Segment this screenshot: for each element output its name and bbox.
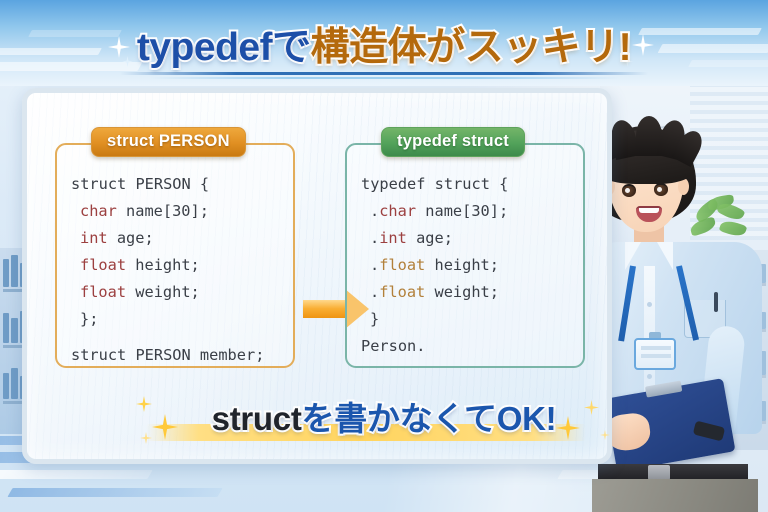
slide-canvas: struct PERSON struct PERSON {char name[3… xyxy=(0,0,768,512)
footer-segment: struct xyxy=(212,400,302,437)
right-code-block: typedef struct {.char name[30];.int age;… xyxy=(361,171,575,360)
title-segment: 構造体 xyxy=(311,26,427,69)
code-token: struct PERSON member; xyxy=(71,346,264,364)
code-line: .char name[30]; xyxy=(361,198,575,225)
left-card-badge: struct PERSON xyxy=(91,127,246,157)
code-keyword: char xyxy=(80,202,117,220)
code-line: struct PERSON { xyxy=(71,171,285,198)
code-token: name[30]; xyxy=(416,202,508,220)
code-keyword: int xyxy=(379,229,407,247)
code-line: .int age; xyxy=(361,225,575,252)
code-line: float height; xyxy=(71,252,285,279)
code-token: Person. xyxy=(361,337,425,355)
code-keyword: float xyxy=(80,256,126,274)
footer-segment: 書かなくて xyxy=(334,400,497,437)
code-keyword: float xyxy=(379,283,425,301)
title-segment: スッキリ! xyxy=(465,26,632,69)
code-keyword: float xyxy=(80,283,126,301)
code-token: }; xyxy=(80,310,98,328)
code-token: . xyxy=(370,256,379,274)
code-token: age; xyxy=(407,229,453,247)
code-token: weight; xyxy=(126,283,200,301)
code-token: height; xyxy=(425,256,499,274)
code-token: name[30]; xyxy=(117,202,209,220)
eye-right xyxy=(654,183,668,196)
footer-segment: OK! xyxy=(497,400,557,437)
code-line: .float weight; xyxy=(361,279,575,306)
title-segment: が xyxy=(426,26,465,69)
title-segment: typedef xyxy=(137,26,272,69)
code-token: height; xyxy=(126,256,200,274)
code-line: }; xyxy=(71,306,285,333)
collar-right xyxy=(657,242,673,270)
code-line: } xyxy=(361,306,575,333)
code-line: .float height; xyxy=(361,252,575,279)
belt-buckle xyxy=(648,465,670,480)
code-token: . xyxy=(370,229,379,247)
shirt-button xyxy=(647,374,652,379)
pocket-pen xyxy=(714,292,718,312)
struct-person-card: struct PERSON struct PERSON {char name[3… xyxy=(55,143,295,368)
right-card-badge: typedef struct xyxy=(381,127,525,157)
typedef-struct-card: typedef struct typedef struct {.char nam… xyxy=(345,143,585,368)
code-line: struct PERSON member; xyxy=(71,342,285,369)
footer-segment: を xyxy=(302,400,335,437)
code-keyword: int xyxy=(80,229,108,247)
code-line: typedef struct { xyxy=(361,171,575,198)
code-line: char name[30]; xyxy=(71,198,285,225)
left-code-block: struct PERSON {char name[30];int age;flo… xyxy=(71,171,285,369)
code-token: . xyxy=(370,283,379,301)
code-token: typedef struct { xyxy=(361,175,508,193)
code-token: weight; xyxy=(425,283,499,301)
code-token: } xyxy=(370,310,379,328)
eye-left xyxy=(622,184,636,197)
code-spacer xyxy=(71,333,285,342)
title-underline xyxy=(120,72,648,75)
footer-message: structを書かなくてOK! xyxy=(0,392,768,440)
code-line: Person. xyxy=(361,333,575,360)
code-keyword: char xyxy=(379,202,416,220)
title-underline-soft xyxy=(150,77,620,79)
code-keyword: float xyxy=(379,256,425,274)
code-token: . xyxy=(370,202,379,220)
trousers xyxy=(592,479,758,512)
code-token: age; xyxy=(108,229,154,247)
title-segment: で xyxy=(272,26,311,69)
code-line: int age; xyxy=(71,225,285,252)
code-line: float weight; xyxy=(71,279,285,306)
page-title: typedefで構造体がスッキリ! xyxy=(0,16,768,72)
code-token: struct PERSON { xyxy=(71,175,209,193)
shirt-button xyxy=(647,302,652,307)
id-badge xyxy=(634,338,676,370)
arrow-shaft xyxy=(303,300,347,318)
